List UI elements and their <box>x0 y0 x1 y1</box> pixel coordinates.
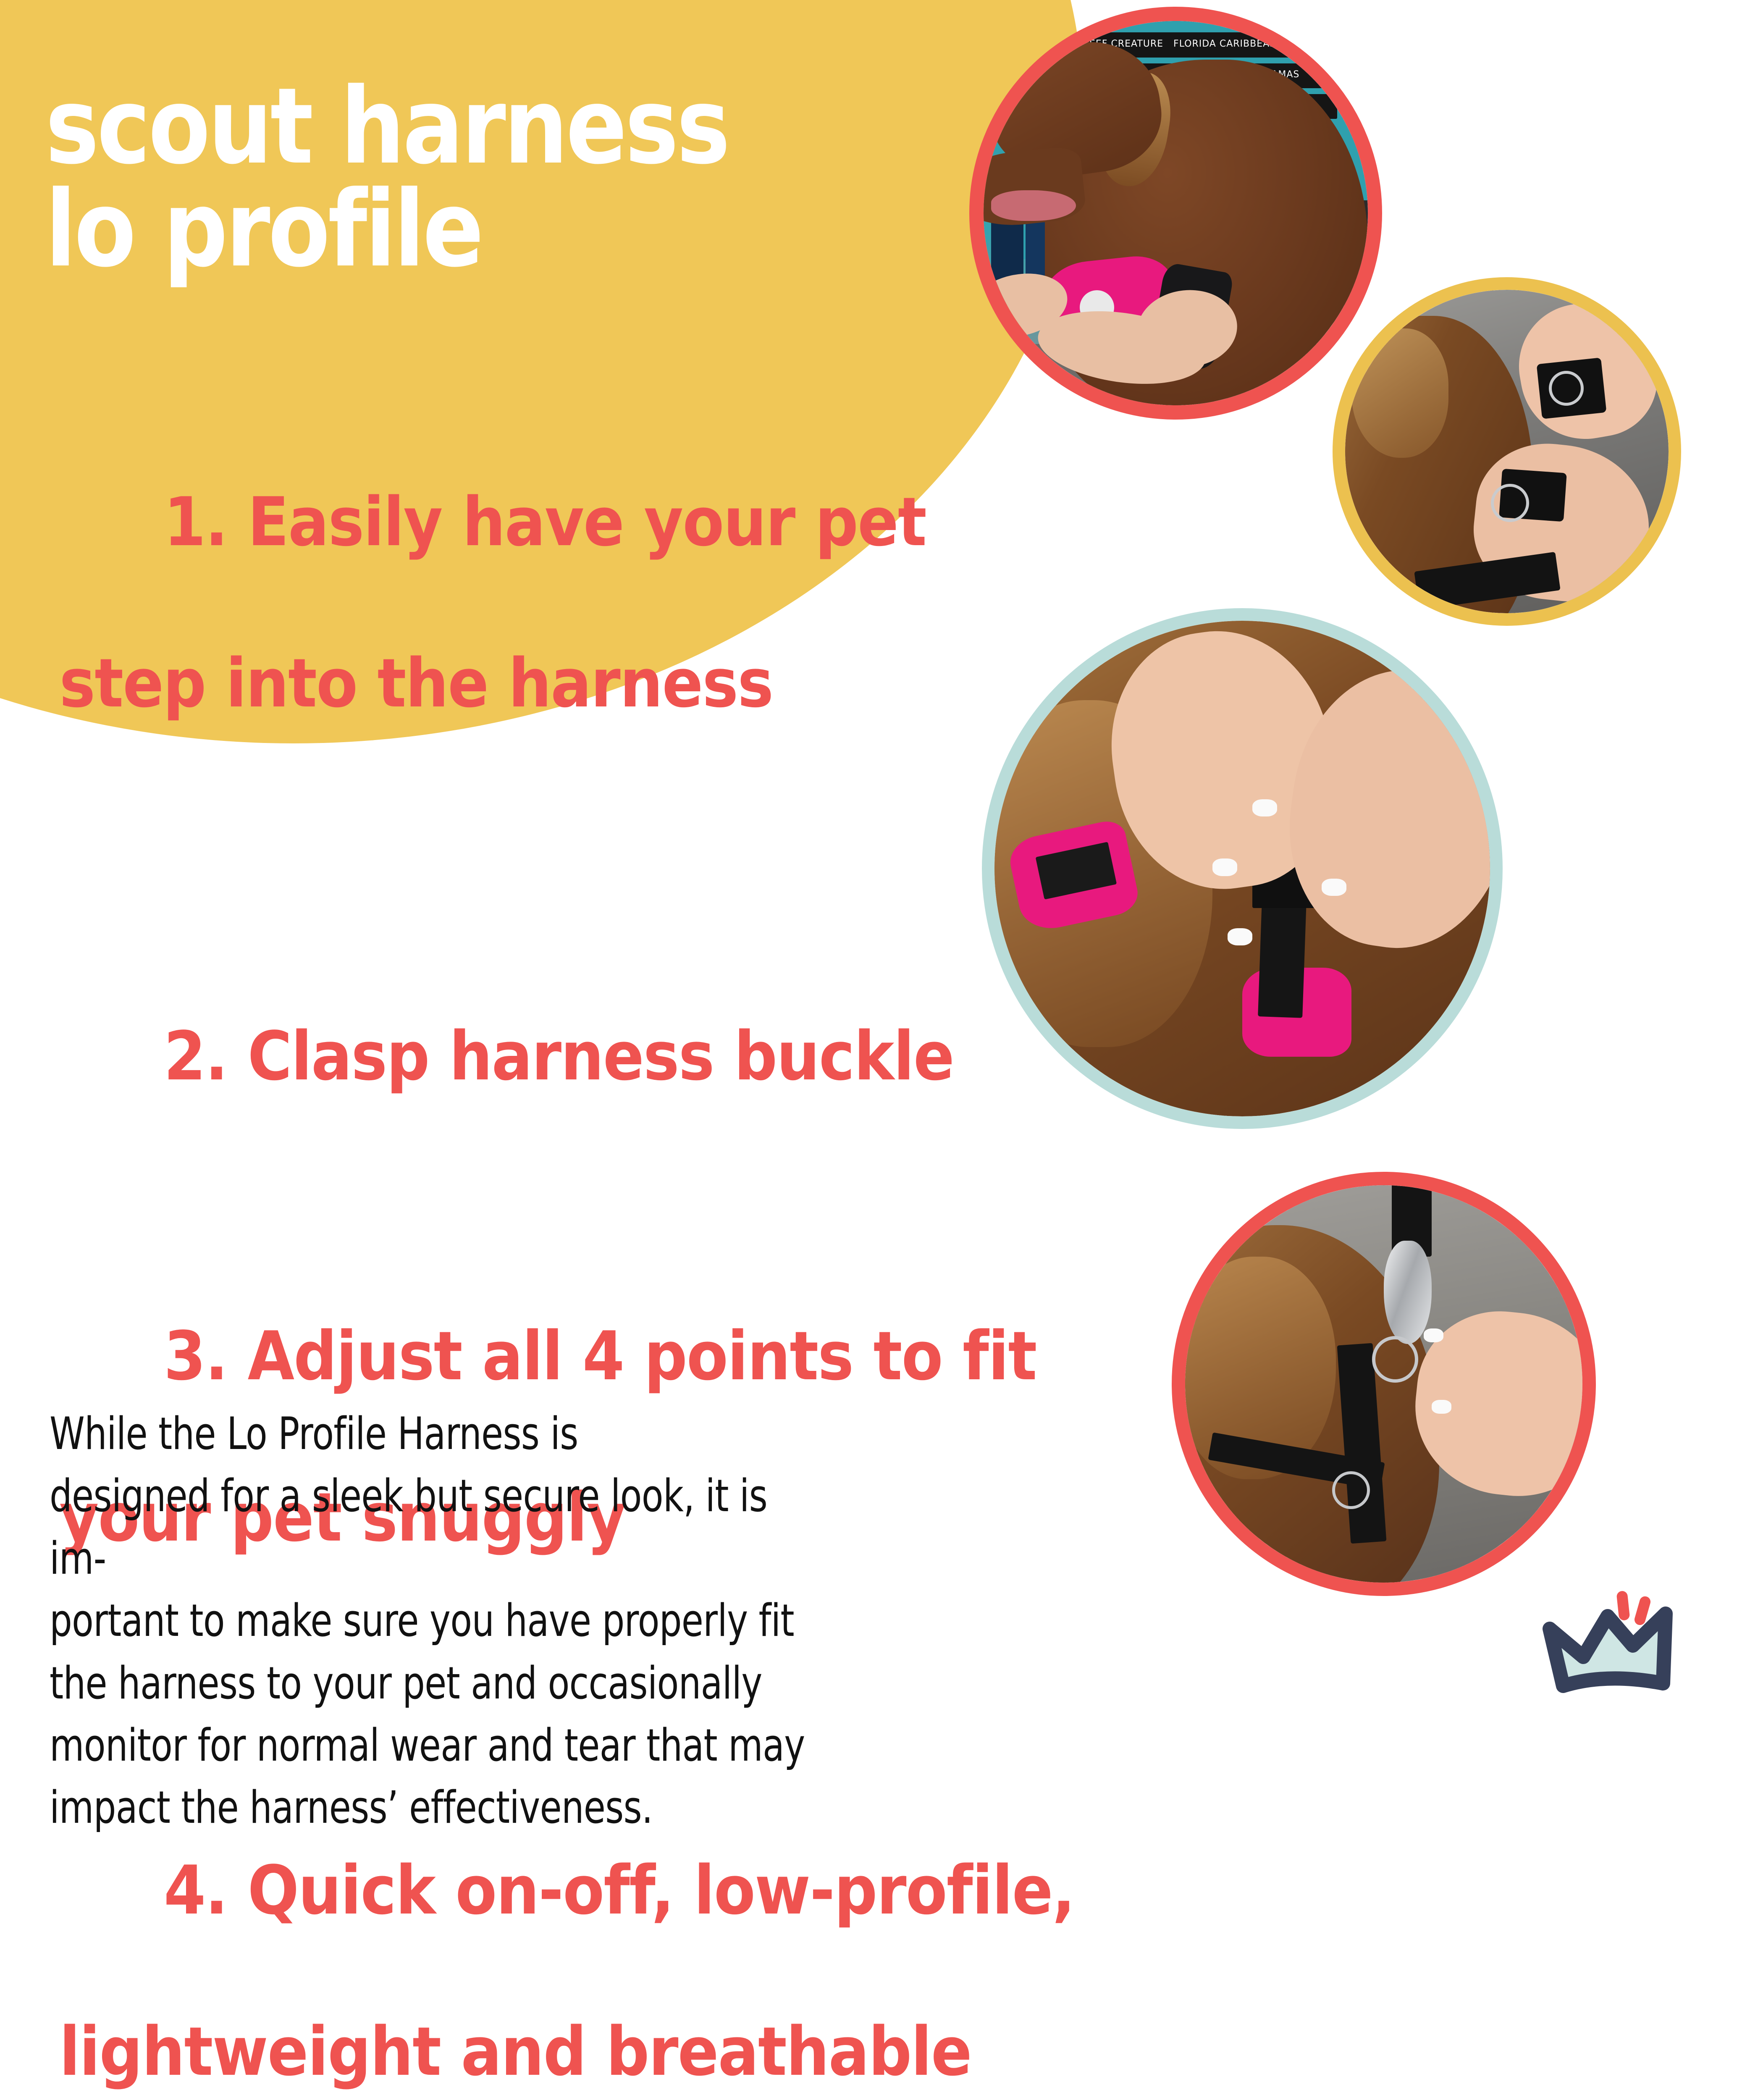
disclaimer-paragraph: While the Lo Profile Harness is designed… <box>50 1403 822 1839</box>
title-line-2: lo profile <box>45 168 482 290</box>
steps-list: 1. Easily have your pet step into the ha… <box>42 401 1050 2100</box>
adjusting-strap-scene <box>994 621 1490 1116</box>
step-4-line-2: lightweight and breathable <box>42 2011 949 2092</box>
step-2-line-1: 2. Clasp harness buckle <box>164 1017 954 1095</box>
infographic-canvas: scout harnesslo profile 1. Easily have y… <box>0 0 1750 1750</box>
step-3-line-1: 3. Adjust all 4 points to fit <box>164 1317 1036 1395</box>
photo-step-3 <box>982 608 1503 1129</box>
photo-step-4-image <box>1185 1185 1582 1583</box>
photo-step-2 <box>1333 277 1681 626</box>
step-item-2: 2. Clasp harness buckle <box>42 935 949 1177</box>
photo-step-1: REEF CREATURE FLORIDA CARIBBEAN BAHAMAS … <box>969 7 1382 420</box>
step-4-line-1: 4. Quick on-off, low-profile, <box>164 1851 1075 1929</box>
photo-step-3-image <box>994 621 1490 1116</box>
clasping-buckle-scene <box>1345 290 1669 613</box>
photo-step-4 <box>1172 1172 1596 1596</box>
page-title: scout harnesslo profile <box>45 75 728 281</box>
crown-logo <box>1537 1583 1676 1709</box>
step-1-line-1: 1. Easily have your pet <box>164 483 926 561</box>
step-item-1: 1. Easily have your pet step into the ha… <box>42 401 949 885</box>
photo-step-1-image: REEF CREATURE FLORIDA CARIBBEAN BAHAMAS … <box>984 21 1368 405</box>
dog-stepping-into-harness-scene: REEF CREATURE FLORIDA CARIBBEAN BAHAMAS … <box>984 21 1368 405</box>
leash-clip-scene <box>1185 1185 1582 1583</box>
photo-step-2-image <box>1345 290 1669 613</box>
crown-sparkle-icons <box>1616 1591 1652 1626</box>
step-1-line-2: step into the harness <box>42 643 949 724</box>
